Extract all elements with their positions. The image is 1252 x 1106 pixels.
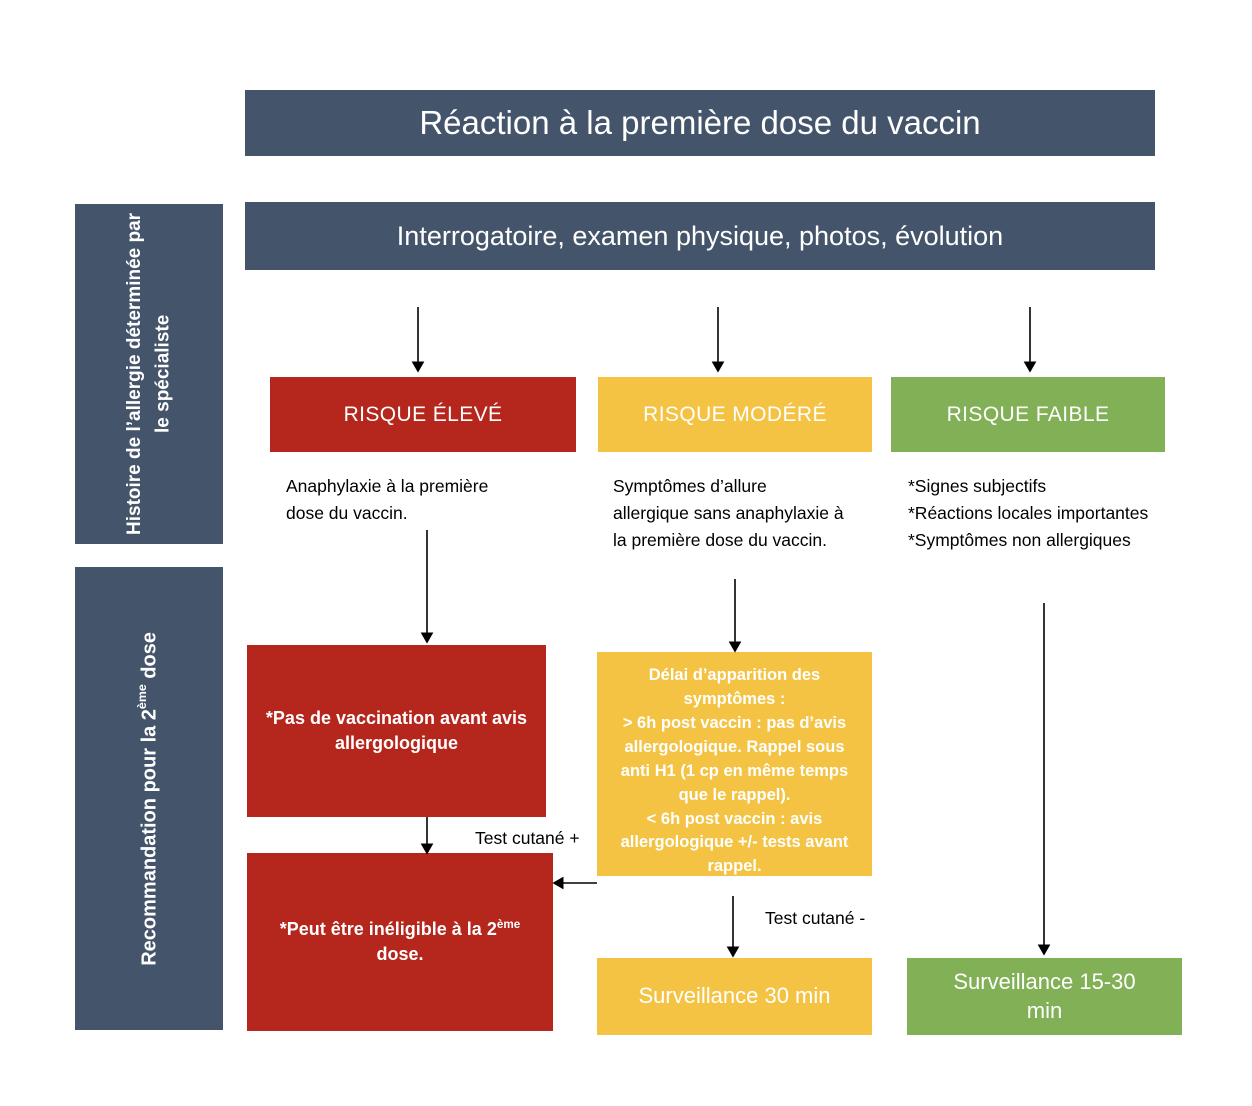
- box-surveillance-30min: Surveillance 30 min: [597, 958, 872, 1035]
- caption-high-risk: Anaphylaxie à la première dose du vaccin…: [286, 473, 576, 527]
- box-symptom-onset-delay: Délai d’apparition des symptômes : > 6h …: [597, 652, 872, 876]
- box-no-vaccination-text: *Pas de vaccination avant avis allergolo…: [266, 706, 527, 756]
- side-label-second-dose-recommendation: Recommandation pour la 2ème dose: [75, 567, 223, 1030]
- box-may-be-ineligible: *Peut être inéligible à la 2ème dose.: [247, 853, 553, 1031]
- box-surveillance-15-30min-text: Surveillance 15-30 min: [953, 968, 1135, 1025]
- box-surveillance-15-30min: Surveillance 15-30 min: [907, 958, 1182, 1035]
- caption-low-risk: *Signes subjectifs *Réactions locales im…: [908, 473, 1183, 554]
- risk-box-high: RISQUE ÉLEVÉ: [270, 377, 576, 452]
- box-may-be-ineligible-text: *Peut être inéligible à la 2ème dose.: [280, 917, 521, 967]
- side-label-allergy-history: Histoire de l’allergie déterminée par le…: [75, 204, 223, 544]
- assessment-step-box: Interrogatoire, examen physique, photos,…: [245, 202, 1155, 270]
- arrow-label-test-positive: Test cutané +: [475, 828, 580, 849]
- caption-moderate-risk: Symptômes d’allure allergique sans anaph…: [613, 473, 883, 554]
- box-surveillance-30min-text: Surveillance 30 min: [639, 982, 831, 1011]
- box-symptom-onset-delay-text: Délai d’apparition des symptômes : > 6h …: [621, 664, 849, 879]
- flowchart-canvas: Réaction à la première dose du vaccin In…: [0, 0, 1252, 1106]
- risk-box-low: RISQUE FAIBLE: [891, 377, 1165, 452]
- side-label-allergy-history-text: Histoire de l’allergie déterminée par le…: [121, 204, 178, 544]
- box-no-vaccination-before-advice: *Pas de vaccination avant avis allergolo…: [247, 645, 546, 817]
- side-label-second-dose-recommendation-text: Recommandation pour la 2ème dose: [133, 632, 165, 966]
- page-title: Réaction à la première dose du vaccin: [245, 90, 1155, 156]
- arrow-label-test-negative: Test cutané -: [765, 908, 865, 929]
- risk-box-moderate: RISQUE MODÉRÉ: [598, 377, 872, 452]
